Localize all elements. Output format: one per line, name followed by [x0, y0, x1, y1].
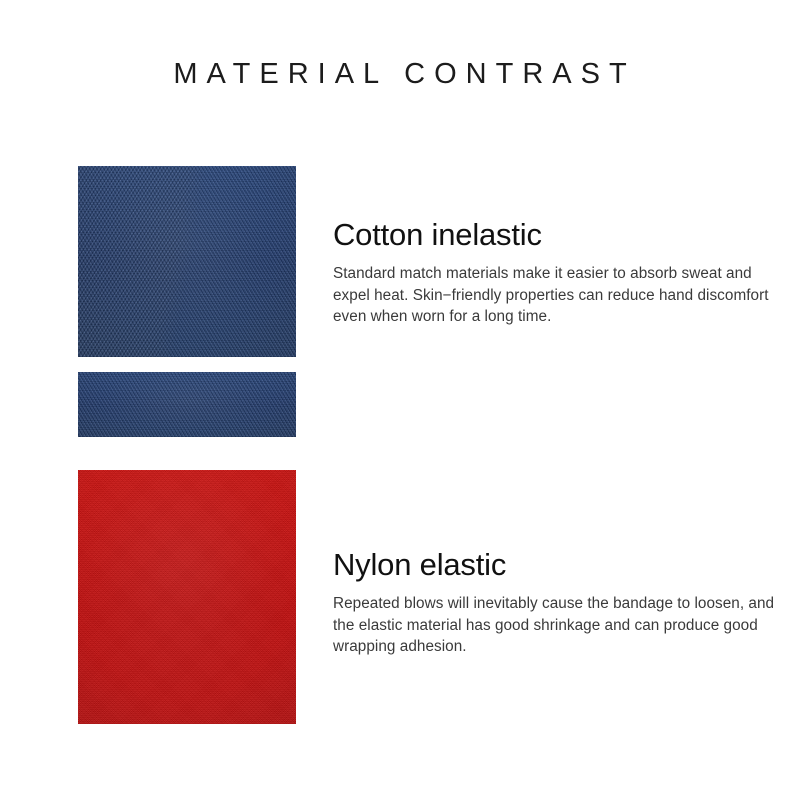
product-material-comparison-page: MATERIAL CONTRAST Cotton inelastic Stand… — [0, 0, 800, 800]
material-description-nylon: Nylon elastic Repeated blows will inevit… — [333, 546, 775, 658]
swatch-nylon-primary — [78, 470, 296, 724]
material-heading-nylon: Nylon elastic — [333, 546, 775, 584]
material-heading-cotton: Cotton inelastic — [333, 216, 775, 254]
material-body-cotton: Standard match materials make it easier … — [333, 263, 775, 328]
swatch-cotton-secondary — [78, 372, 296, 437]
page-title: MATERIAL CONTRAST — [0, 58, 800, 91]
swatch-cotton-primary — [78, 166, 296, 357]
material-body-nylon: Repeated blows will inevitably cause the… — [333, 593, 775, 658]
material-description-cotton: Cotton inelastic Standard match material… — [333, 216, 775, 328]
